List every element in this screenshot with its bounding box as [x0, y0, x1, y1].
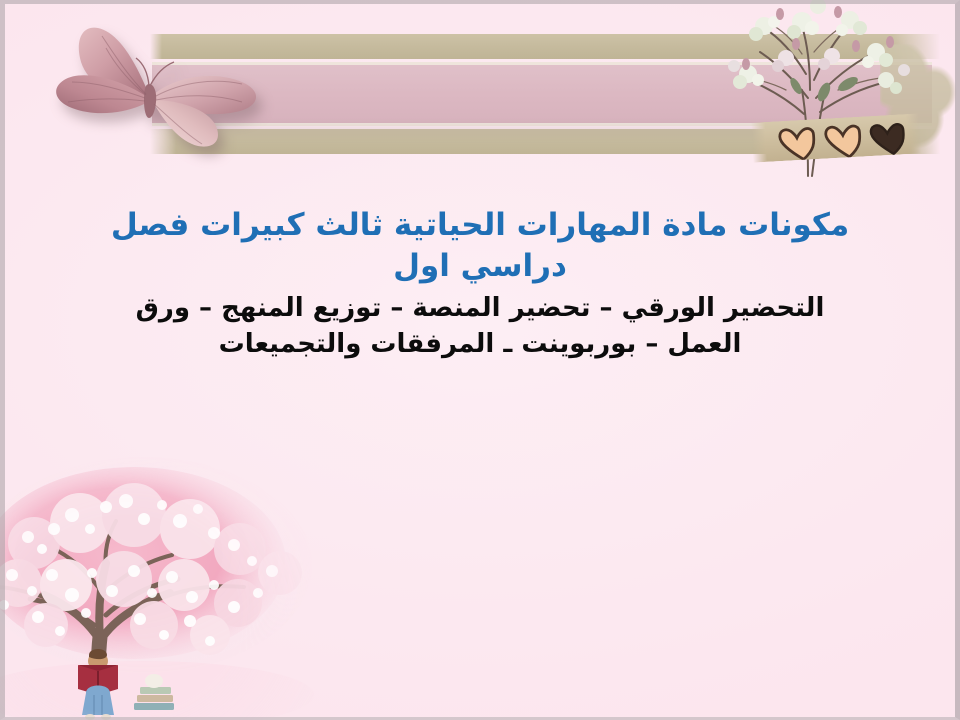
slide-subtitle: التحضير الورقي – تحضير المنصة – توزيع ال…	[50, 291, 910, 363]
butterfly-icon	[36, 14, 266, 164]
slide-title: مكونات مادة المهارات الحياتية ثالث كبيرا…	[50, 205, 910, 287]
slide-subtitle-line-1: التحضير الورقي – تحضير المنصة – توزيع ال…	[136, 293, 825, 323]
slide-text-block: مكونات مادة المهارات الحياتية ثالث كبيرا…	[50, 205, 910, 363]
slide-subtitle-line-2: العمل – بوربوينت ـ المرفقات والتجميعات	[219, 329, 742, 359]
slide-title-line-2: دراسي اول	[393, 248, 567, 284]
cherry-tree-illustration	[0, 445, 324, 720]
slide-title-line-1: مكونات مادة المهارات الحياتية ثالث كبيرا…	[111, 207, 849, 243]
presentation-slide: مكونات مادة المهارات الحياتية ثالث كبيرا…	[0, 0, 960, 720]
